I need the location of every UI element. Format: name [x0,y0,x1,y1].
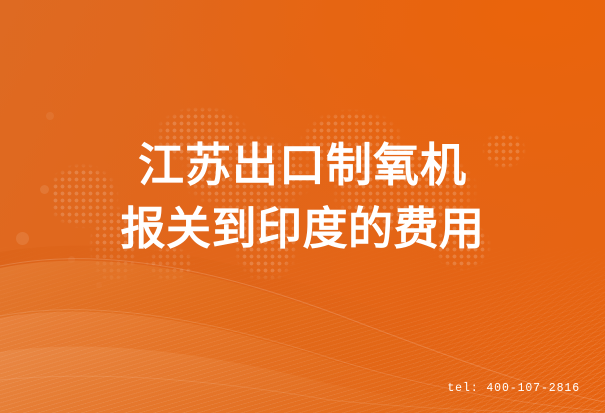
headline-line-1: 江苏出口制氧机 [0,133,605,197]
contact-telephone: tel: 400-107-2816 [447,382,580,395]
page-title: 江苏出口制氧机 报关到印度的费用 [0,133,605,261]
headline-line-2: 报关到印度的费用 [0,197,605,261]
promo-banner: 江苏出口制氧机 报关到印度的费用 tel: 400-107-2816 [0,0,605,413]
